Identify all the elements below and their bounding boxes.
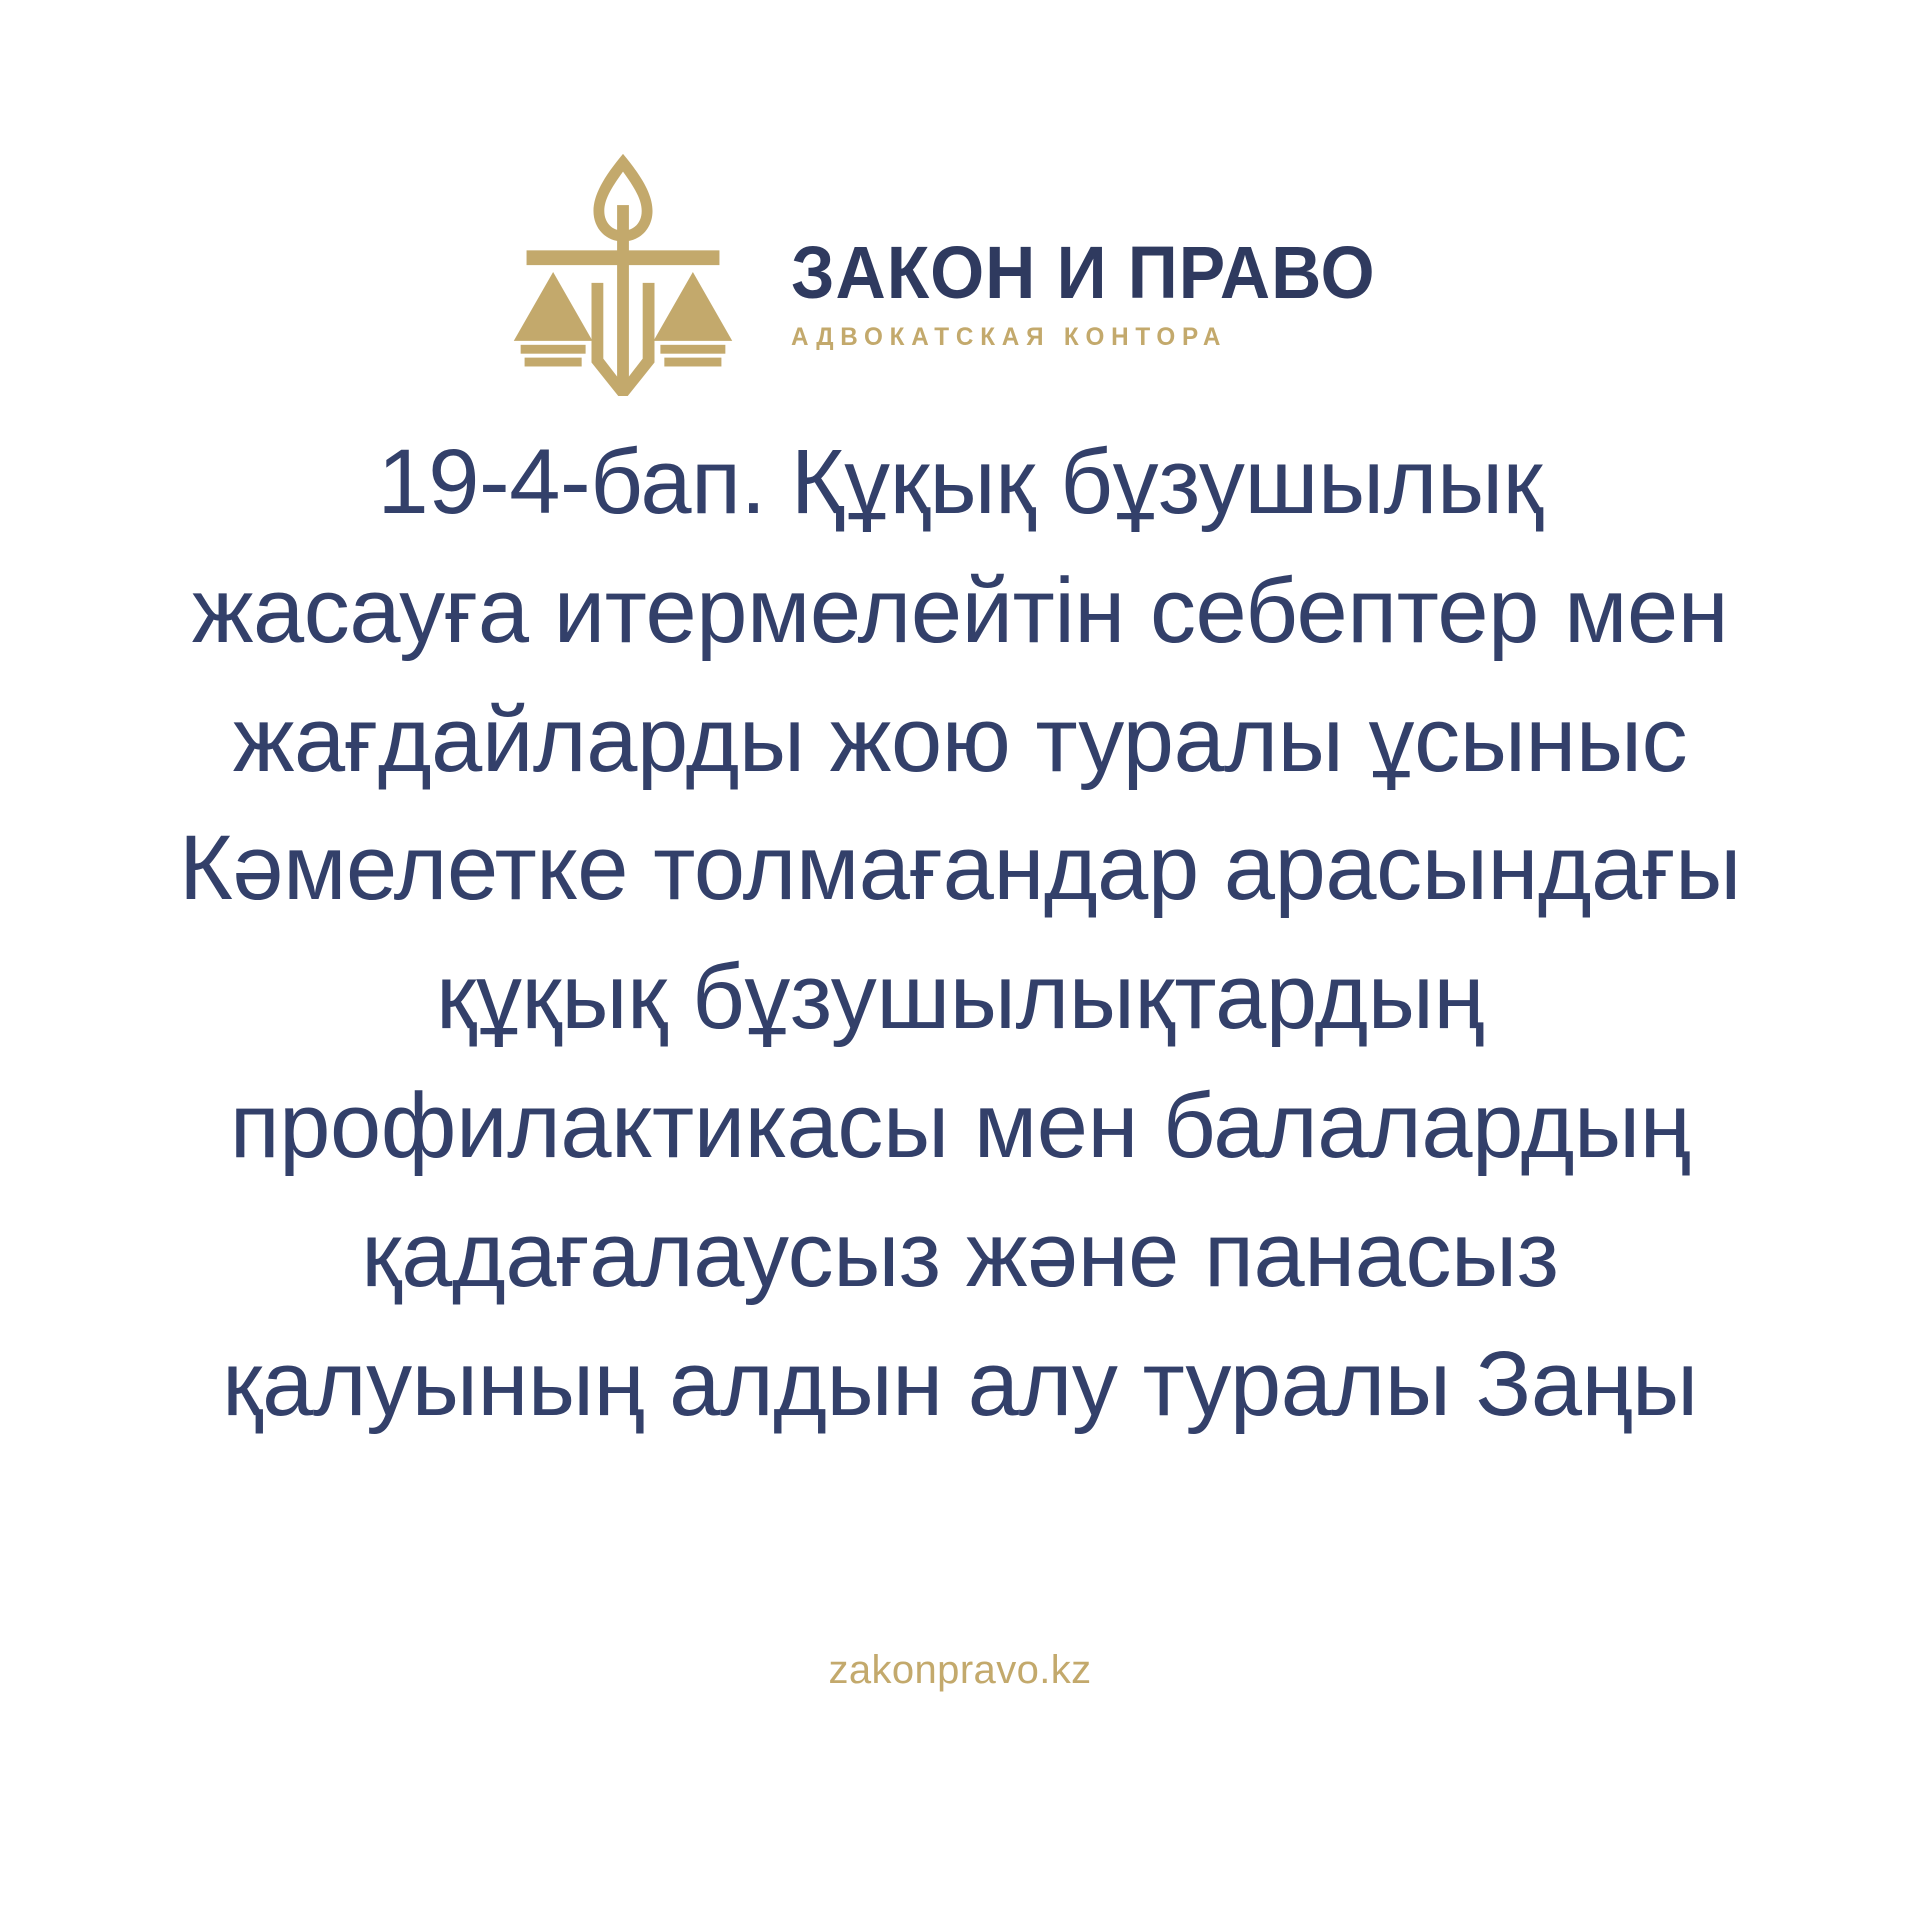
headline-line: жағдайларды жою туралы ұсыныс xyxy=(233,676,1687,805)
headline-line: профилактикасы мен балалардың xyxy=(230,1062,1690,1191)
legal-announcement-card: ЗАКОН И ПРАВО АДВОКАТСКАЯ КОНТОРА 19-4-б… xyxy=(0,0,1920,1920)
headline-line: қалуының алдын алу туралы Заңы xyxy=(222,1320,1697,1449)
headline-line: құқық бұзушылықтардың xyxy=(436,933,1484,1062)
footer: zakonpravo.kz xyxy=(0,1648,1920,1693)
headline-line: 19-4-бап. Құқық бұзушылық xyxy=(377,418,1542,547)
logo-subtitle: АДВОКАТСКАЯ КОНТОРА xyxy=(791,323,1227,352)
site-url-link[interactable]: zakonpravo.kz xyxy=(828,1648,1091,1693)
headline-line: қадағалаусыз және панасыз xyxy=(361,1191,1558,1320)
brand-logo: ЗАКОН И ПРАВО АДВОКАТСКАЯ КОНТОРА xyxy=(507,148,1413,396)
logo-wordmark: ЗАКОН И ПРАВО АДВОКАТСКАЯ КОНТОРА xyxy=(791,192,1413,353)
headline-line: жасауға итермелейтін себептер мен xyxy=(192,547,1728,676)
logo-title: ЗАКОН И ПРАВО xyxy=(791,238,1376,308)
headline-line: Кәмелетке толмағандар арасындағы xyxy=(179,804,1741,933)
headline-text: 19-4-бап. Құқық бұзушылық жасауға итерме… xyxy=(65,418,1855,1448)
scales-of-justice-icon xyxy=(507,148,739,396)
